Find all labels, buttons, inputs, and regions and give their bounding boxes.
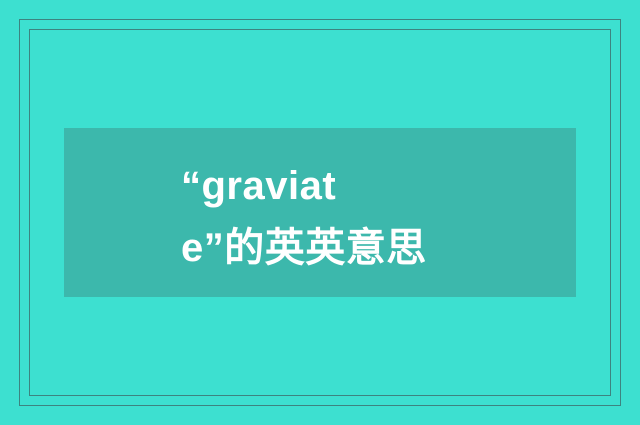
page-title: “graviat e”的英英意思 bbox=[181, 155, 431, 279]
title-panel: “graviat e”的英英意思 bbox=[64, 128, 576, 297]
page-canvas: “graviat e”的英英意思 bbox=[0, 0, 640, 425]
